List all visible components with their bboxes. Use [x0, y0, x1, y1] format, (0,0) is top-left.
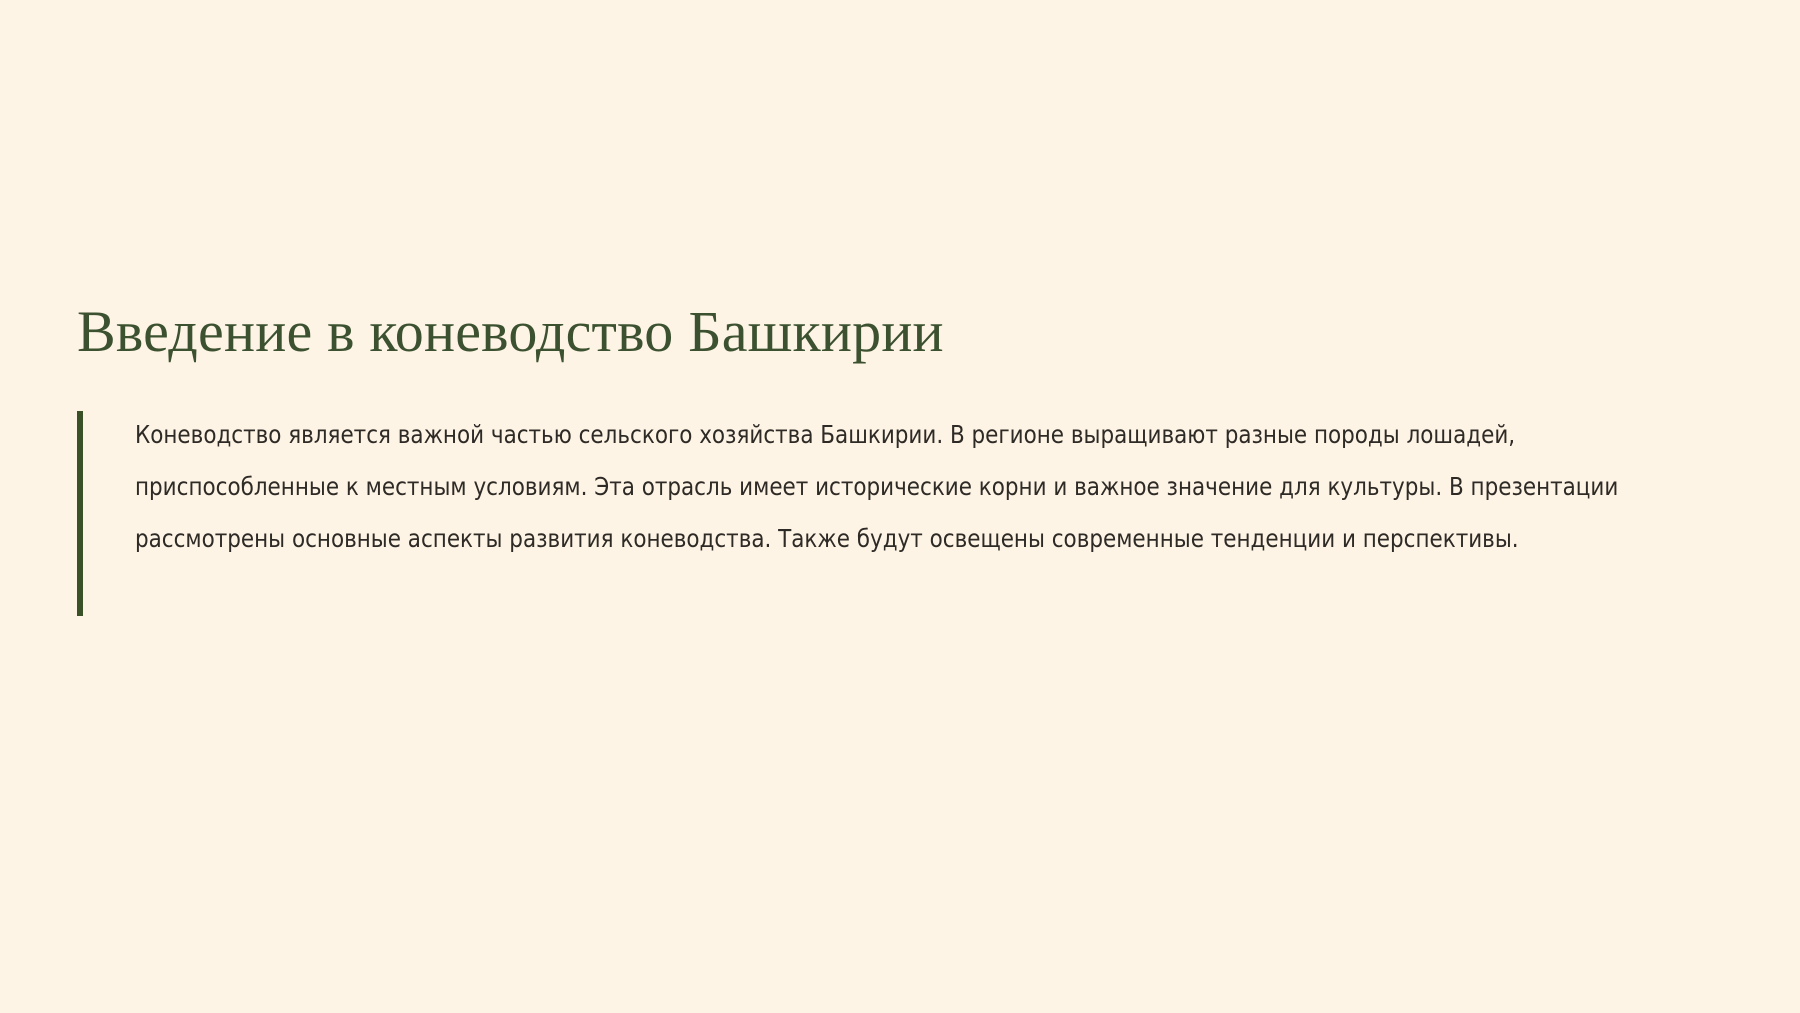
presentation-slide: Введение в коневодство Башкирии Коневодс… — [0, 0, 1800, 1013]
body-paragraph: Коневодство является важной частью сельс… — [135, 409, 1630, 565]
accent-bar — [77, 411, 83, 616]
body-quote-block: Коневодство является важной частью сельс… — [77, 409, 1717, 565]
slide-content-area: Введение в коневодство Башкирии Коневодс… — [77, 300, 1717, 565]
page-title: Введение в коневодство Башкирии — [77, 300, 1717, 365]
